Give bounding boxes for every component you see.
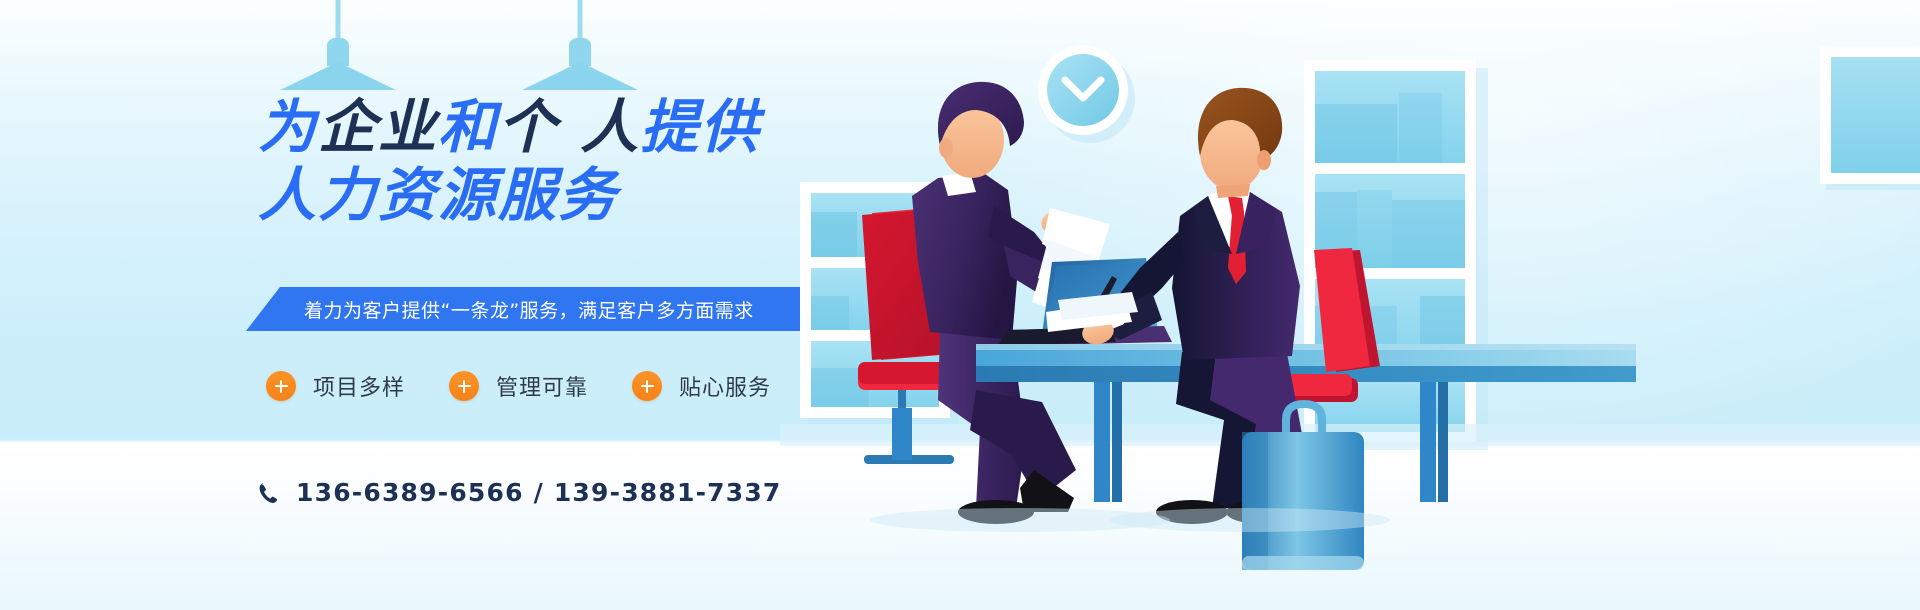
hr-services-hero-banner: 为企业和个 人提供 人力资源服务 着力为客户提供“一条龙”服务，满足客户多方面需… bbox=[0, 0, 1920, 610]
plus-icon bbox=[449, 371, 479, 401]
picture-frame bbox=[1820, 46, 1920, 190]
phone-icon bbox=[258, 481, 280, 505]
floor-shadow-right bbox=[1110, 508, 1390, 532]
subtitle-text: 着力为客户提供“一条龙”服务，满足客户多方面需求 bbox=[304, 296, 754, 323]
feature-label: 管理可靠 bbox=[496, 370, 588, 402]
headline-seg-3: 和 bbox=[438, 93, 498, 161]
headline-seg-2: 企业 bbox=[318, 93, 438, 161]
feature-label: 贴心服务 bbox=[679, 370, 771, 402]
headline-seg-1: 为 bbox=[258, 93, 318, 161]
feature-item-3[interactable]: 贴心服务 bbox=[632, 370, 771, 402]
wall-clock bbox=[1038, 45, 1135, 143]
feature-list: 项目多样 管理可靠 贴心服务 bbox=[266, 370, 815, 402]
feature-item-1[interactable]: 项目多样 bbox=[266, 370, 405, 402]
contact-phone-row[interactable]: 136-6389-6566 / 139-3881-7337 bbox=[258, 478, 782, 507]
phone-numbers: 136-6389-6566 / 139-3881-7337 bbox=[296, 478, 782, 507]
feature-item-2[interactable]: 管理可靠 bbox=[449, 370, 588, 402]
plus-icon bbox=[266, 371, 296, 401]
headline-seg-5: 提供 bbox=[640, 93, 760, 161]
headline-seg-4: 个 人 bbox=[498, 93, 640, 161]
feature-label: 项目多样 bbox=[313, 370, 405, 402]
plus-icon bbox=[632, 371, 662, 401]
office-meeting-illustration bbox=[780, 0, 1920, 610]
